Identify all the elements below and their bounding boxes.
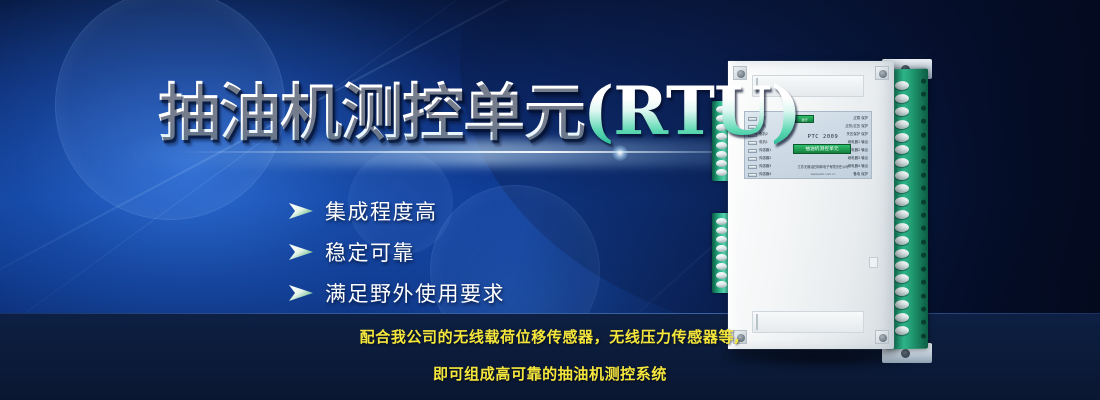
page-title: 抽油机测控单元(RTU) bbox=[158, 78, 801, 144]
indicator-label: 过热/过压 保护 bbox=[845, 124, 868, 129]
list-item: 稳定可靠 bbox=[288, 231, 505, 272]
list-item-label: 集成程度高 bbox=[325, 196, 438, 226]
terminal-screws-right bbox=[895, 81, 917, 335]
green-arrow-icon bbox=[288, 202, 314, 220]
indicator-row: 继电器3 输出 bbox=[848, 155, 868, 162]
caption-line-2: 即可组成高可靠的抽油机测控系统 bbox=[0, 367, 1100, 382]
indicator-label: 继电器3 输出 bbox=[848, 156, 868, 161]
led-icon bbox=[748, 173, 757, 177]
terminal-holes-right bbox=[919, 79, 928, 339]
list-item: 满足野外使用要求 bbox=[288, 272, 505, 313]
led-icon bbox=[748, 157, 757, 161]
caption-line-1: 配合我公司的无线载荷位移传感器，无线压力传感器等, bbox=[0, 330, 1100, 345]
indicator-row: 过载 保护 bbox=[853, 115, 868, 122]
manufacturer-website: www.petc.com.cn bbox=[781, 172, 865, 176]
page-title-cn: 抽油机测控单元 bbox=[158, 76, 585, 149]
indicator-label: 传感器2 bbox=[759, 156, 771, 161]
screw-icon bbox=[875, 66, 889, 80]
rtu-product-banner: 抽油机测控单元(RTU) 集成程度高 bbox=[0, 0, 1100, 400]
indicator-row: 过热/过压 保护 bbox=[845, 123, 868, 130]
device-product-name-plate: 抽油机测控单元 bbox=[793, 144, 851, 154]
feature-list: 集成程度高 稳定可靠 bbox=[288, 190, 505, 313]
list-item-label: 满足野外使用要求 bbox=[325, 278, 505, 308]
enclosure-mini-port bbox=[869, 257, 878, 268]
list-item: 集成程度高 bbox=[288, 190, 505, 231]
caption-block: 配合我公司的无线载荷位移传感器，无线压力传感器等, 即可组成高可靠的抽油机测控系… bbox=[0, 330, 1100, 382]
list-item-label: 稳定可靠 bbox=[325, 237, 415, 267]
green-arrow-icon bbox=[288, 284, 314, 302]
indicator-label: 过载 保护 bbox=[853, 116, 868, 121]
manufacturer-name: 江苏无锡油田特种电子有限责任公司 bbox=[781, 165, 865, 170]
page-title-rtu: (RTU) bbox=[583, 72, 801, 150]
device-model-number: PTC 2009 bbox=[793, 134, 853, 140]
led-icon bbox=[748, 165, 757, 169]
indicator-row: 传感器2 bbox=[748, 155, 792, 162]
indicator-label: 传感器3 bbox=[759, 164, 771, 169]
device-product-name: 抽油机测控单元 bbox=[794, 145, 850, 155]
indicator-label: 传感器4 bbox=[759, 172, 771, 177]
green-arrow-icon bbox=[288, 243, 314, 261]
